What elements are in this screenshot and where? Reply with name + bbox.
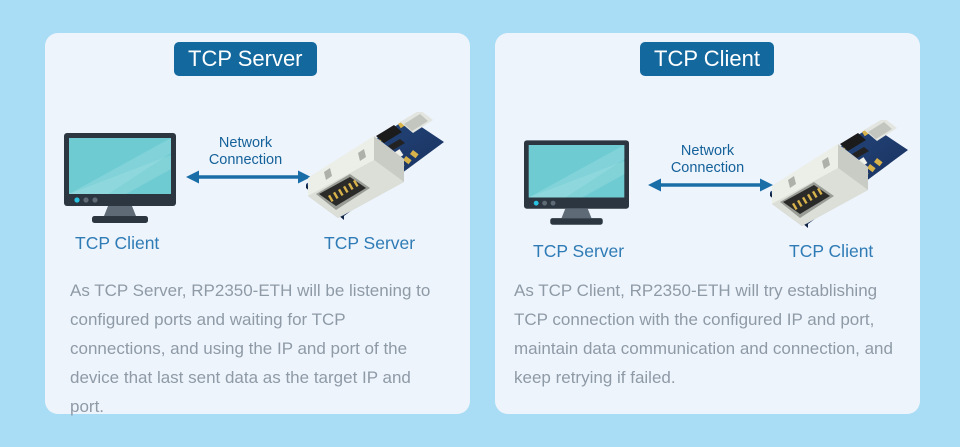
connection-label-line1: Network [183, 135, 308, 152]
network-connection-arrow-right [648, 176, 773, 199]
device-label-right-monitor: TCP Server [533, 241, 624, 262]
device-label-left-board: TCP Server [324, 233, 415, 254]
diagram-stage: TCP Server Network Connection [0, 0, 960, 447]
rp2350-eth-board-icon-right [756, 120, 908, 237]
network-connection-label-right: Network Connection [645, 143, 770, 177]
connection-label-line1: Network [645, 143, 770, 160]
device-label-left-monitor: TCP Client [75, 233, 159, 254]
connection-label-line2: Connection [183, 152, 308, 169]
network-connection-label-left: Network Connection [183, 135, 308, 169]
panel-description-right: As TCP Client, RP2350-ETH will try estab… [514, 276, 914, 392]
connection-label-line2: Connection [645, 160, 770, 177]
panel-description-left: As TCP Server, RP2350-ETH will be listen… [70, 276, 442, 421]
desktop-monitor-icon-right [524, 140, 629, 230]
panel-title-badge-left: TCP Server [174, 42, 317, 76]
device-label-right-board: TCP Client [789, 241, 873, 262]
desktop-monitor-icon-left [64, 133, 176, 228]
panel-title-badge-right: TCP Client [640, 42, 774, 76]
rp2350-eth-board-icon-left [292, 112, 444, 229]
